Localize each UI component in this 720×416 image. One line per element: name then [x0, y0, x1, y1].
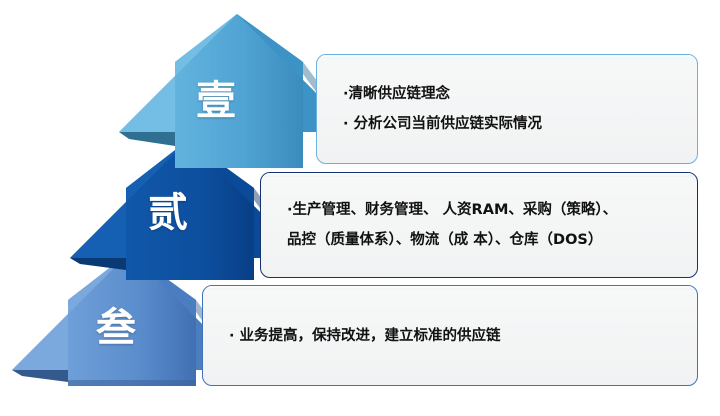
step-card-3[interactable]: · 业务提高，保持改进，建立标准的供应链 — [202, 285, 698, 386]
card-content-2: ·生产管理、财务管理、 人资RAM、采购（策略）、 品控（质量体系）、物流（成 … — [261, 195, 697, 255]
card-content-3: · 业务提高，保持改进，建立标准的供应链 — [203, 322, 697, 350]
step-numeral-3: 叁 — [96, 295, 137, 353]
step-numeral-2: 贰 — [148, 180, 189, 238]
slide-canvas: 壹 贰 叁 ·清晰供应链理念 · 分析公司当前供应链实际情况 ·生产管理、财务管… — [0, 0, 720, 416]
card-1-line-1: ·清晰供应链理念 — [343, 79, 671, 109]
step-card-2[interactable]: ·生产管理、财务管理、 人资RAM、采购（策略）、 品控（质量体系）、物流（成 … — [260, 172, 698, 278]
card-content-1: ·清晰供应链理念 · 分析公司当前供应链实际情况 — [317, 79, 697, 139]
card-top-highlight-2 — [261, 173, 697, 177]
card-1-line-2: · 分析公司当前供应链实际情况 — [343, 109, 671, 139]
card-2-line-2: 品控（质量体系）、物流（成 本）、仓库（DOS） — [287, 225, 671, 255]
step-numeral-1: 壹 — [196, 68, 237, 126]
card-top-highlight-1 — [317, 55, 697, 59]
step-card-1[interactable]: ·清晰供应链理念 · 分析公司当前供应链实际情况 — [316, 54, 698, 164]
card-top-highlight-3 — [203, 286, 697, 290]
card-3-line-1: · 业务提高，保持改进，建立标准的供应链 — [229, 322, 671, 350]
card-2-line-1: ·生产管理、财务管理、 人资RAM、采购（策略）、 — [287, 195, 671, 225]
